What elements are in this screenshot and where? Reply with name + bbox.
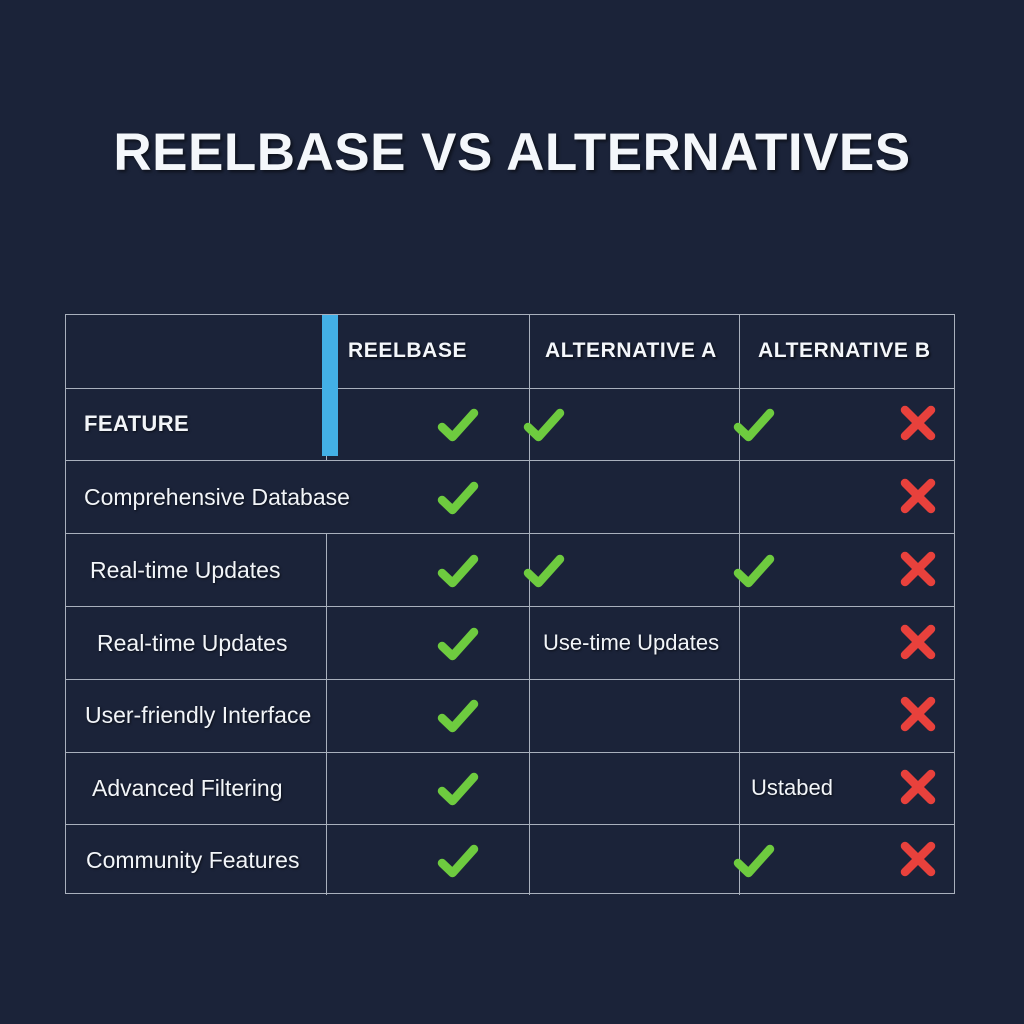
alta-note-cell: Use-time Updates <box>529 607 739 679</box>
feature-label-cell: Real-time Updates <box>66 607 326 679</box>
cross-icon <box>897 693 939 740</box>
cross-icon <box>897 475 939 522</box>
feature-label: User-friendly Interface <box>85 702 311 729</box>
column-separator <box>529 825 531 895</box>
feature-label-cell: FEATURE <box>66 389 326 461</box>
page-title: REELBASE VS ALTERNATIVES <box>0 122 1024 183</box>
reelbase-accent-bar <box>322 315 338 456</box>
feature-label: Real-time Updates <box>97 630 287 657</box>
column-header-alt_a: ALTERNATIVE A <box>529 315 739 388</box>
cross-icon <box>897 548 939 595</box>
feature-label: Real-time Updates <box>90 557 280 584</box>
feature-label-cell: User-friendly Interface <box>66 680 326 752</box>
column-separator <box>529 753 531 825</box>
feature-label-cell: Comprehensive Database <box>66 461 326 533</box>
feature-label-cell: Advanced Filtering <box>66 753 326 825</box>
check-icon <box>435 621 481 667</box>
column-separator <box>739 680 741 752</box>
check-icon <box>521 402 567 448</box>
altb-note: Ustabed <box>751 775 833 801</box>
check-icon <box>731 838 777 884</box>
cross-icon <box>897 766 939 813</box>
table-row[interactable]: FEATURE <box>66 388 954 461</box>
column-header-label: ALTERNATIVE A <box>545 339 717 363</box>
check-icon <box>435 475 481 521</box>
check-icon <box>435 548 481 594</box>
table-header-row: REELBASEALTERNATIVE AALTERNATIVE B <box>66 315 954 388</box>
column-separator <box>529 680 531 752</box>
column-header-alt_b: ALTERNATIVE B <box>739 315 956 388</box>
check-icon <box>435 838 481 884</box>
column-separator <box>739 461 741 533</box>
comparison-table: REELBASEALTERNATIVE AALTERNATIVE BFEATUR… <box>65 314 955 894</box>
feature-label: Community Features <box>86 847 299 874</box>
check-icon <box>731 402 777 448</box>
column-header-feature <box>66 315 326 388</box>
check-icon <box>521 548 567 594</box>
column-header-label: ALTERNATIVE B <box>758 339 931 363</box>
table-row[interactable]: Community Features <box>66 824 954 895</box>
cross-icon <box>897 838 939 885</box>
feature-label: Advanced Filtering <box>92 775 283 802</box>
table-row[interactable]: Real-time UpdatesUse-time Updates <box>66 606 954 679</box>
cross-icon <box>897 402 939 449</box>
table-row[interactable]: Real-time Updates <box>66 533 954 606</box>
column-header-label: REELBASE <box>348 339 467 363</box>
column-header-reelbase: REELBASE <box>326 315 529 388</box>
table-row[interactable]: User-friendly Interface <box>66 679 954 752</box>
feature-label: Comprehensive Database <box>84 484 350 511</box>
check-icon <box>435 402 481 448</box>
feature-label-cell: Community Features <box>66 825 326 895</box>
column-separator <box>529 461 531 533</box>
feature-label-cell: Real-time Updates <box>66 534 326 606</box>
check-icon <box>435 693 481 739</box>
table-row[interactable]: Advanced FilteringUstabed <box>66 752 954 825</box>
table-row[interactable]: Comprehensive Database <box>66 460 954 533</box>
check-icon <box>435 766 481 812</box>
alta-note: Use-time Updates <box>543 630 719 656</box>
feature-label: FEATURE <box>84 411 189 437</box>
check-icon <box>731 548 777 594</box>
cross-icon <box>897 621 939 668</box>
